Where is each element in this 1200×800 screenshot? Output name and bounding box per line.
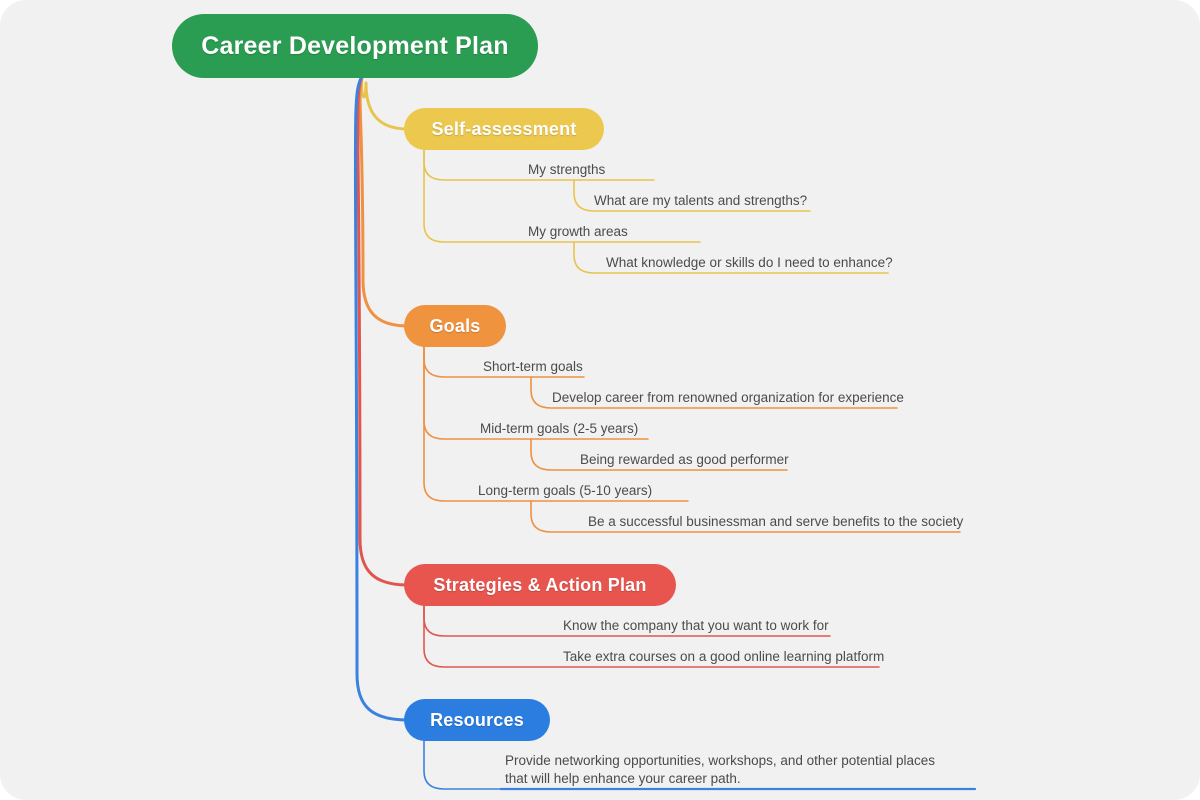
leaf-node-develop-career-from-renowned-organization[interactable]: Develop career from renowned organizatio… bbox=[552, 389, 904, 407]
child-node-short-term-goals[interactable]: Short-term goals bbox=[483, 358, 583, 376]
connector-root-to-self-assessment bbox=[362, 76, 408, 129]
child-node-take-extra-courses[interactable]: Take extra courses on a good online lear… bbox=[563, 648, 884, 666]
connector-root-to-goals bbox=[360, 76, 408, 326]
leaf-node-what-knowledge-or-skills-do-i-need-to-enhance[interactable]: What knowledge or skills do I need to en… bbox=[606, 254, 893, 272]
child-node-my-growth-areas[interactable]: My growth areas bbox=[528, 223, 628, 241]
connector-root-to-strategies-action-plan bbox=[358, 76, 408, 585]
root-node-career-development-plan[interactable]: Career Development Plan bbox=[172, 14, 538, 78]
branch-node-resources[interactable]: Resources bbox=[404, 699, 550, 741]
leaf-node-being-rewarded-as-good-performer[interactable]: Being rewarded as good performer bbox=[580, 451, 789, 469]
branch-node-self-assessment[interactable]: Self-assessment bbox=[404, 108, 604, 150]
branch-node-goals[interactable]: Goals bbox=[404, 305, 506, 347]
mindmap-canvas: Career Development Plan Self-assessment … bbox=[0, 0, 1200, 800]
child-node-mid-term-goals[interactable]: Mid-term goals (2-5 years) bbox=[480, 420, 638, 438]
leaf-node-what-are-my-talents-and-strengths[interactable]: What are my talents and strengths? bbox=[594, 192, 807, 210]
branch-node-strategies-action-plan[interactable]: Strategies & Action Plan bbox=[404, 564, 676, 606]
child-node-my-strengths[interactable]: My strengths bbox=[528, 161, 605, 179]
connector-root-to-resources bbox=[355, 76, 408, 720]
leaf-node-be-a-successful-businessman[interactable]: Be a successful businessman and serve be… bbox=[588, 513, 963, 531]
child-node-know-the-company[interactable]: Know the company that you want to work f… bbox=[563, 617, 829, 635]
child-node-provide-networking-opportunities[interactable]: Provide networking opportunities, worksh… bbox=[505, 752, 957, 788]
child-node-long-term-goals[interactable]: Long-term goals (5-10 years) bbox=[478, 482, 652, 500]
